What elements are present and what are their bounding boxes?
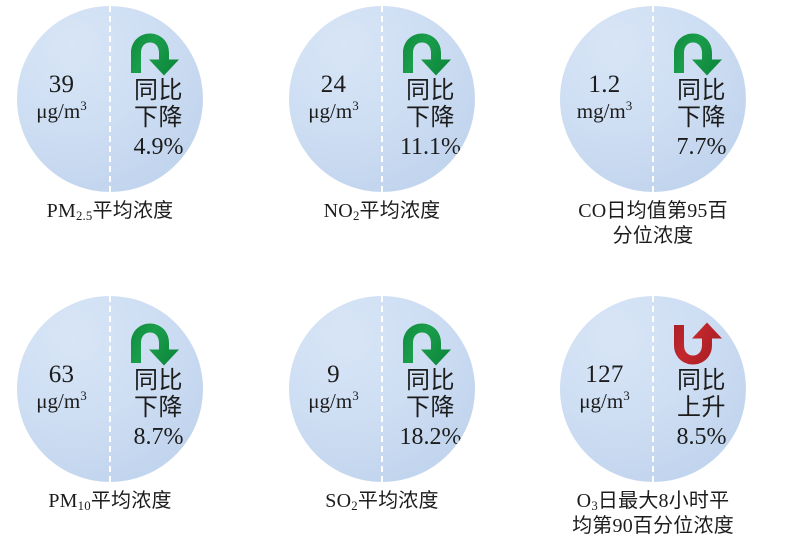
caption-prefix: NO: [324, 200, 353, 222]
metric-unit: μg/m3: [308, 99, 358, 124]
trend-percent: 8.7%: [134, 423, 184, 452]
caption-suffix: 日均值第95百: [606, 200, 727, 222]
caption-suffix: 日最大8小时平: [598, 490, 729, 512]
circle-divider: [652, 296, 654, 482]
metric-unit: μg/m3: [308, 389, 358, 414]
trend-percent: 18.2%: [400, 423, 462, 452]
metric-card-pm10: 63μg/m3同比下降8.7%PM10平均浓度: [0, 296, 235, 514]
metric-trend-half: 同比下降7.7%: [653, 6, 746, 192]
trend-percent: 8.5%: [677, 423, 727, 452]
caption-subscript: 2: [351, 499, 358, 513]
metric-circle-pm10: 63μg/m3同比下降8.7%: [17, 296, 203, 482]
metric-value-half: 39μg/m3: [17, 6, 110, 192]
metric-circle-o3: 127μg/m3同比上升8.5%: [560, 296, 746, 482]
metric-trend-half: 同比下降4.9%: [110, 6, 203, 192]
trend-label: 同比: [134, 77, 183, 104]
caption-prefix: PM: [47, 200, 76, 222]
metric-value-half: 63μg/m3: [17, 296, 110, 482]
caption-prefix: O: [577, 490, 592, 512]
metric-unit: μg/m3: [36, 389, 86, 414]
arrow-down-icon-svg: [398, 32, 464, 76]
metrics-grid: 39μg/m3同比下降4.9%PM2.5平均浓度24μg/m3同比下降11.1%…: [0, 0, 800, 536]
metric-value: 39: [49, 72, 75, 99]
trend-label: 同比: [677, 77, 726, 104]
circle-divider: [381, 6, 383, 192]
caption-line-2: 分位浓度: [578, 224, 728, 249]
metric-unit-main: μg/m: [579, 389, 623, 413]
metric-value: 9: [327, 362, 340, 389]
circle-divider: [109, 296, 111, 482]
metric-trend-half: 同比下降8.7%: [110, 296, 203, 482]
metric-unit: μg/m3: [579, 389, 629, 414]
metric-caption-co: CO日均值第95百分位浓度: [578, 199, 728, 249]
circle-divider: [381, 296, 383, 482]
metric-value: 24: [321, 72, 347, 99]
trend-direction-label: 下降: [677, 104, 726, 131]
trend-direction-label: 上升: [677, 394, 726, 421]
caption-subscript: 3: [591, 499, 598, 513]
arrow-down-icon: [125, 322, 193, 366]
trend-percent: 11.1%: [400, 133, 461, 162]
metric-caption-pm10: PM10平均浓度: [48, 489, 171, 514]
arrow-up-icon-svg: [669, 322, 735, 366]
caption-prefix: CO: [578, 200, 606, 222]
metric-unit-exponent: 3: [623, 388, 630, 403]
metric-unit: mg/m3: [577, 99, 633, 124]
metric-circle-no2: 24μg/m3同比下降11.1%: [289, 6, 475, 192]
caption-prefix: SO: [325, 490, 351, 512]
arrow-down-icon-svg: [398, 322, 464, 366]
arrow-down-icon: [397, 322, 465, 366]
trend-percent: 7.7%: [677, 133, 727, 162]
caption-prefix: PM: [48, 490, 77, 512]
trend-percent: 4.9%: [134, 133, 184, 162]
metric-card-so2: 9μg/m3同比下降18.2%SO2平均浓度: [257, 296, 507, 514]
caption-line-1: O3日最大8小时平: [572, 489, 734, 514]
trend-label: 同比: [134, 367, 183, 394]
caption-line-1: PM2.5平均浓度: [47, 199, 174, 224]
metric-circle-co: 1.2mg/m3同比下降7.7%: [560, 6, 746, 192]
metric-card-co: 1.2mg/m3同比下降7.7%CO日均值第95百分位浓度: [528, 6, 778, 249]
caption-suffix: 平均浓度: [93, 200, 174, 222]
metric-trend-half: 同比下降11.1%: [382, 6, 475, 192]
metric-value-half: 9μg/m3: [289, 296, 382, 482]
metric-caption-o3: O3日最大8小时平均第90百分位浓度: [572, 489, 734, 539]
metric-card-o3: 127μg/m3同比上升8.5%O3日最大8小时平均第90百分位浓度: [528, 296, 778, 539]
metric-card-no2: 24μg/m3同比下降11.1%NO2平均浓度: [257, 6, 507, 224]
arrow-down-icon: [125, 32, 193, 76]
caption-subscript: 2: [353, 209, 360, 223]
metric-value: 63: [49, 362, 75, 389]
metric-unit: μg/m3: [36, 99, 86, 124]
metric-card-pm25: 39μg/m3同比下降4.9%PM2.5平均浓度: [0, 6, 235, 224]
arrow-down-icon: [397, 32, 465, 76]
metric-value-half: 24μg/m3: [289, 6, 382, 192]
caption-subscript: 2.5: [76, 209, 93, 223]
caption-suffix: 平均浓度: [91, 490, 172, 512]
metric-unit-exponent: 3: [626, 98, 633, 113]
metric-value: 127: [585, 362, 623, 389]
arrow-down-icon: [668, 32, 736, 76]
trend-direction-label: 下降: [406, 104, 455, 131]
metric-caption-no2: NO2平均浓度: [324, 199, 441, 224]
caption-line-1: NO2平均浓度: [324, 199, 441, 224]
caption-suffix: 平均浓度: [360, 200, 441, 222]
trend-direction-label: 下降: [134, 104, 183, 131]
caption-line-2: 均第90百分位浓度: [572, 514, 734, 539]
metric-unit-exponent: 3: [80, 98, 87, 113]
caption-suffix: 平均浓度: [358, 490, 439, 512]
metric-circle-pm25: 39μg/m3同比下降4.9%: [17, 6, 203, 192]
caption-subscript: 10: [78, 499, 91, 513]
trend-direction-label: 下降: [406, 394, 455, 421]
arrow-down-icon-svg: [126, 32, 192, 76]
circle-divider: [109, 6, 111, 192]
metric-value-half: 1.2mg/m3: [560, 6, 653, 192]
metric-caption-pm25: PM2.5平均浓度: [47, 199, 174, 224]
metric-unit-main: mg/m: [577, 99, 626, 123]
caption-line-1: PM10平均浓度: [48, 489, 171, 514]
metric-caption-so2: SO2平均浓度: [325, 489, 438, 514]
metric-value: 1.2: [588, 72, 620, 99]
arrow-up-icon: [668, 322, 736, 366]
circle-divider: [652, 6, 654, 192]
trend-direction-label: 下降: [134, 394, 183, 421]
metric-trend-half: 同比上升8.5%: [653, 296, 746, 482]
metric-unit-exponent: 3: [352, 98, 359, 113]
caption-line-1: CO日均值第95百: [578, 199, 728, 224]
arrow-down-icon-svg: [126, 322, 192, 366]
metric-unit-main: μg/m: [36, 389, 80, 413]
trend-label: 同比: [406, 367, 455, 394]
metric-value-half: 127μg/m3: [560, 296, 653, 482]
trend-label: 同比: [406, 77, 455, 104]
metric-trend-half: 同比下降18.2%: [382, 296, 475, 482]
trend-label: 同比: [677, 367, 726, 394]
metric-unit-main: μg/m: [308, 99, 352, 123]
metric-unit-main: μg/m: [36, 99, 80, 123]
caption-line-1: SO2平均浓度: [325, 489, 438, 514]
metric-circle-so2: 9μg/m3同比下降18.2%: [289, 296, 475, 482]
metric-unit-main: μg/m: [308, 389, 352, 413]
metric-unit-exponent: 3: [80, 388, 87, 403]
arrow-down-icon-svg: [669, 32, 735, 76]
metric-unit-exponent: 3: [352, 388, 359, 403]
